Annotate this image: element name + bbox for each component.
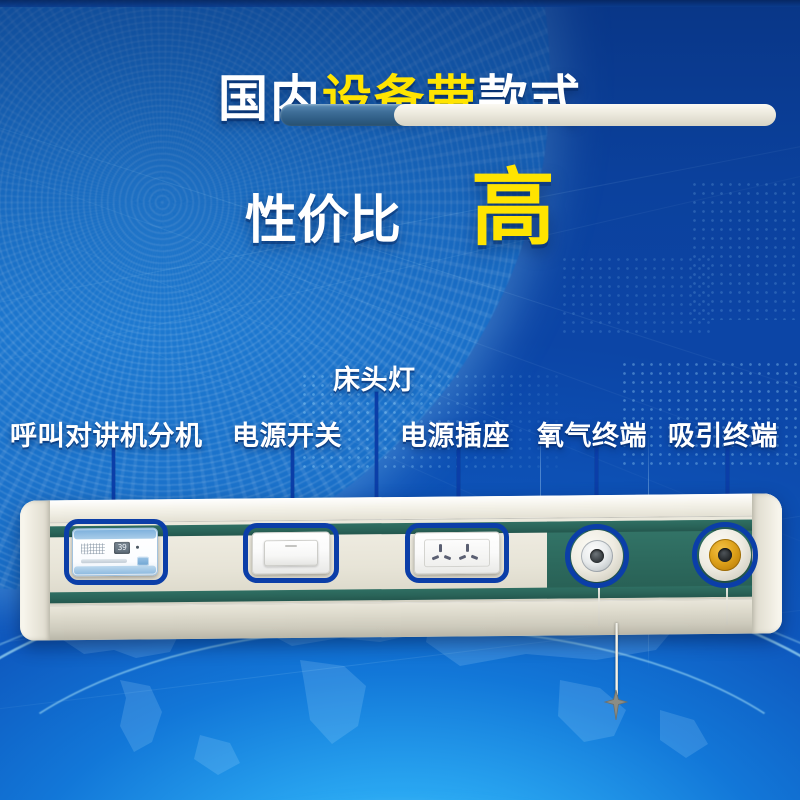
highlight-ring-suction — [692, 522, 758, 588]
panel-service-rail-light — [394, 104, 776, 126]
product-banner: 国内设备带款式 性价比 高 呼叫对讲机分机 电源开关 床头灯 电源插座 氧气终端… — [0, 0, 800, 800]
pull-cord-hook-icon[interactable] — [600, 688, 632, 722]
panel-endcap-left — [20, 500, 50, 640]
highlight-box-intercom — [64, 519, 168, 585]
highlight-ring-oxygen — [565, 524, 629, 588]
suction-cord — [726, 585, 728, 625]
callout-label-power-outlet: 电源插座 — [400, 414, 510, 453]
callout-label-intercom: 呼叫对讲机分机 — [10, 414, 203, 453]
halftone-dots-mid — [560, 255, 710, 335]
oxygen-cord — [598, 586, 600, 626]
callout-label-oxygen: 氧气终端 — [537, 414, 647, 453]
callout-label-power-switch: 电源开关 — [232, 414, 342, 453]
panel-bottom-lip — [20, 598, 782, 640]
highlight-box-power-switch — [243, 523, 339, 583]
pull-cord[interactable] — [615, 623, 618, 695]
callout-label-bed-lamp: 床头灯 — [333, 358, 416, 397]
callout-label-suction: 吸引终端 — [668, 414, 778, 453]
highlight-box-power-outlet — [405, 523, 509, 583]
